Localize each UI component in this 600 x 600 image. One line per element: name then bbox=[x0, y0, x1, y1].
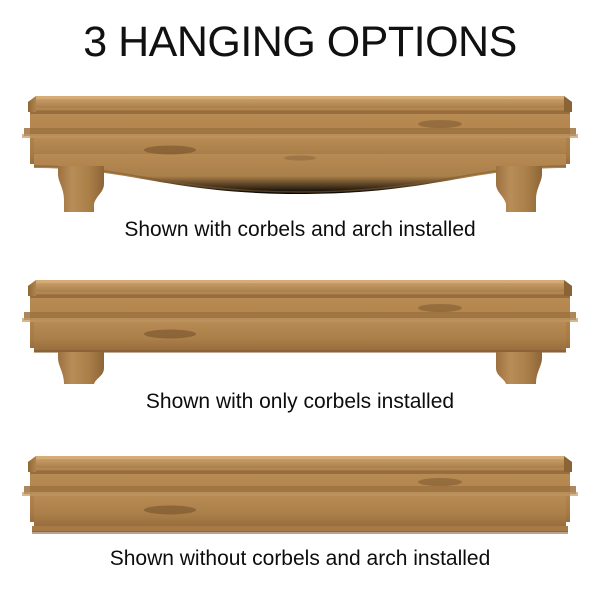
wood-knot bbox=[284, 155, 316, 160]
left-end-return bbox=[28, 96, 36, 112]
wood-knot bbox=[418, 120, 462, 128]
right-corbel bbox=[496, 352, 542, 384]
right-end-return bbox=[564, 456, 572, 472]
hanging-option-3: Shown without corbels and arch installed bbox=[0, 448, 600, 572]
left-end-return bbox=[28, 280, 36, 296]
hanging-option-1: Shown with corbels and arch installed bbox=[0, 88, 600, 243]
wood-knot bbox=[144, 506, 196, 515]
molding-highlight bbox=[22, 492, 578, 496]
mantel-shelf-with-corbels-and-arch bbox=[0, 88, 600, 213]
lower-frieze-panel bbox=[34, 496, 566, 528]
apron-bottom-line bbox=[34, 350, 566, 353]
cap-edge-face bbox=[28, 107, 572, 112]
cap-top-highlight bbox=[34, 456, 566, 459]
left-corbel bbox=[58, 166, 104, 212]
right-end-return bbox=[564, 96, 572, 112]
molding-highlight bbox=[22, 134, 578, 138]
molding-highlight bbox=[22, 318, 578, 322]
option-2-caption: Shown with only corbels installed bbox=[0, 389, 600, 415]
cap-edge-face bbox=[28, 467, 572, 472]
mantel-shelf-plain bbox=[0, 448, 600, 540]
hanging-option-2: Shown with only corbels installed bbox=[0, 272, 600, 415]
cap-top-highlight bbox=[34, 280, 566, 283]
option-1-caption: Shown with corbels and arch installed bbox=[0, 217, 600, 243]
lower-frieze-panel bbox=[34, 322, 566, 352]
wood-knot bbox=[144, 330, 196, 339]
cap-edge-face bbox=[28, 291, 572, 296]
cap-top-highlight bbox=[34, 96, 566, 99]
page-title: 3 HANGING OPTIONS bbox=[0, 16, 600, 68]
right-corbel bbox=[496, 166, 542, 212]
mantel-shelf-with-corbels-only bbox=[0, 272, 600, 384]
base-shadow-line bbox=[32, 531, 568, 534]
wood-knot bbox=[144, 146, 196, 155]
left-corbel bbox=[58, 352, 104, 384]
product-image-canvas: 3 HANGING OPTIONS bbox=[0, 0, 600, 600]
wood-knot bbox=[418, 478, 462, 486]
wood-knot bbox=[418, 304, 462, 312]
left-end-return bbox=[28, 456, 36, 472]
right-end-return bbox=[564, 280, 572, 296]
option-3-caption: Shown without corbels and arch installed bbox=[0, 546, 600, 572]
